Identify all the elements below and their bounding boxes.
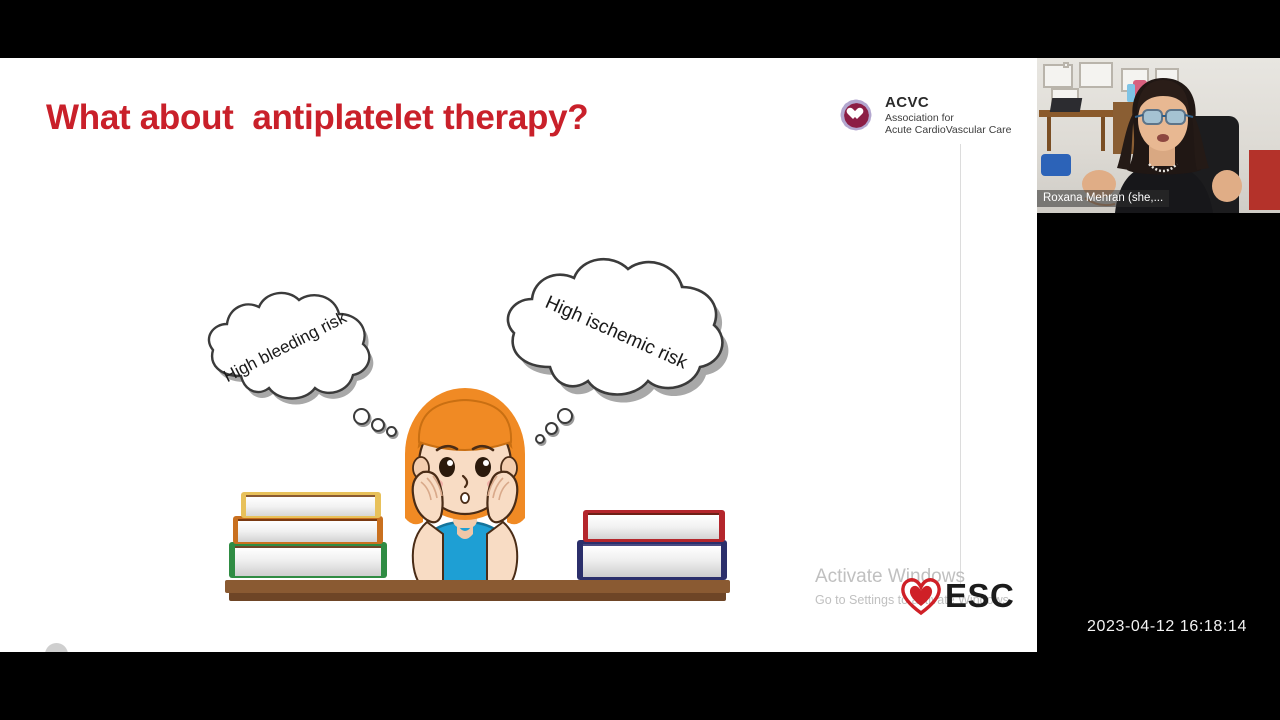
acvc-subtitle-line1: Association for: [885, 112, 1011, 124]
slide-progress-dot[interactable]: [45, 643, 68, 652]
presentation-slide[interactable]: What about antiplatelet therapy? ACVC As…: [0, 58, 1037, 652]
esc-logo: ESC: [900, 576, 1014, 616]
acvc-logo: ACVC Association for Acute CardioVascula…: [836, 94, 1011, 136]
video-participant-tile[interactable]: Roxana Mehran (she,...: [1037, 58, 1280, 213]
worried-girl-with-books-illustration: High bleeding risk High ischemic risk: [205, 208, 765, 608]
slide-vertical-divider: [960, 144, 961, 584]
esc-heart-icon: [900, 576, 942, 616]
recording-timestamp: 2023-04-12 16:18:14: [1087, 618, 1247, 636]
screen-recording-frame: What about antiplatelet therapy? ACVC As…: [0, 0, 1280, 720]
book-stack-right: [577, 504, 727, 584]
esc-wordmark: ESC: [945, 577, 1014, 615]
slide-title: What about antiplatelet therapy?: [46, 98, 588, 138]
cartoon-girl-figure: [365, 368, 565, 598]
table-edge: [229, 593, 726, 601]
acvc-flower-heart-icon: [836, 95, 876, 135]
acvc-subtitle-line2: Acute CardioVascular Care: [885, 124, 1011, 136]
acvc-logo-text: ACVC Association for Acute CardioVascula…: [885, 94, 1011, 136]
thought-bubble-bleeding-risk: High bleeding risk: [205, 286, 390, 416]
participant-name-label: Roxana Mehran (she,...: [1037, 190, 1169, 207]
acvc-name: ACVC: [885, 94, 1011, 112]
table-surface: [225, 580, 730, 593]
book-stack-left: [227, 488, 387, 584]
